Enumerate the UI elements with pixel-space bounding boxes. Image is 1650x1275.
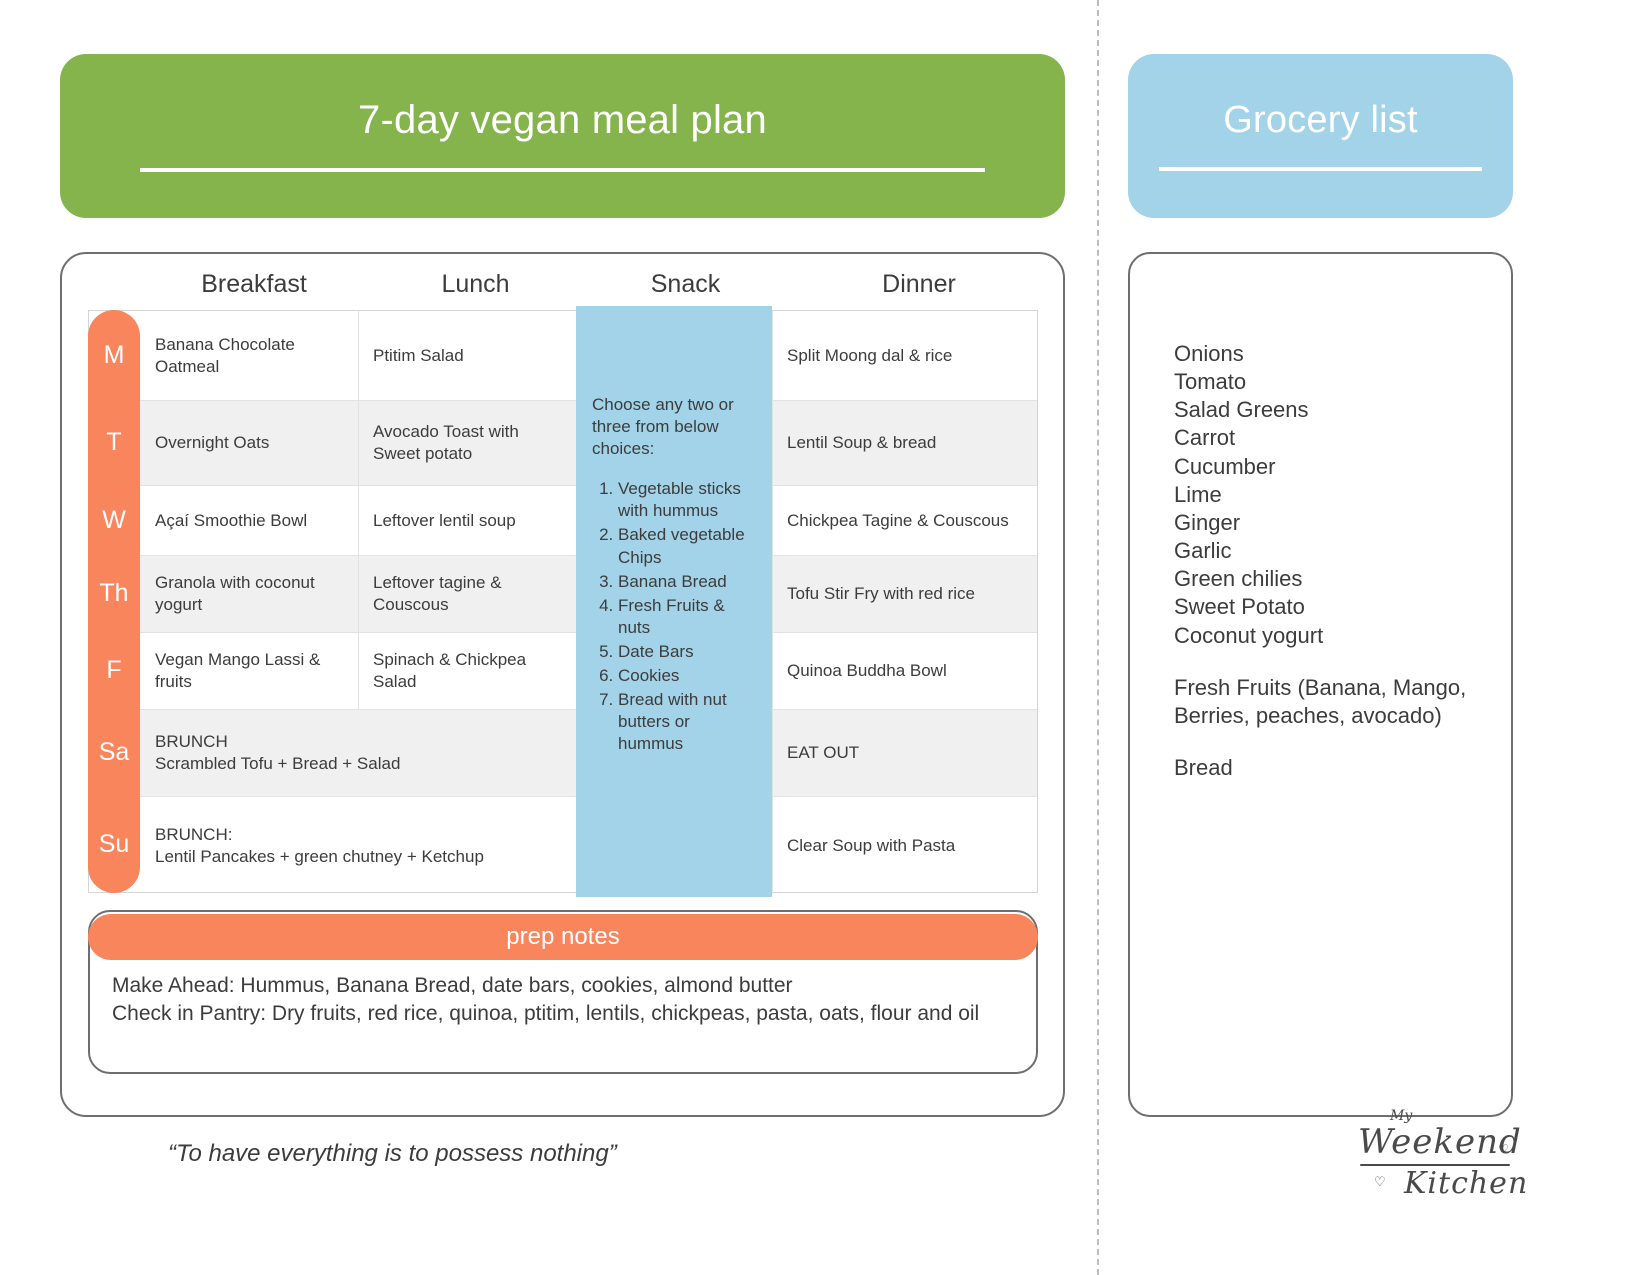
day-label-fri: F [88,632,140,709]
grocery-title-rule [1159,167,1482,171]
day-label-thu: Th [88,555,140,632]
page-divider [1097,0,1099,1275]
cell-dinner: Lentil Soup & bread [773,401,1037,485]
grocery-item: Salad Greens [1174,396,1524,424]
cell-breakfast: Banana Chocolate Oatmeal [141,311,359,400]
day-label-sat: Sa [88,709,140,796]
snack-intro-text: Choose any two or three from below choic… [592,394,758,460]
cell-lunch: Ptitim Salad [359,311,577,400]
table-row: Overnight Oats Avocado Toast with Sweet … [89,401,1037,486]
table-row: Açaí Smoothie Bowl Leftover lentil soup … [89,486,1037,556]
column-header-dinner: Dinner [788,270,1050,299]
logo-kitchen-text: Kitchen [1404,1166,1528,1201]
snack-option: Baked vegetable Chips [618,524,758,568]
grocery-item: Onions [1174,340,1524,368]
cell-lunch: Spinach & Chickpea Salad [359,633,577,709]
grocery-banner: Grocery list [1128,54,1513,218]
grocery-item: Lime [1174,481,1524,509]
day-label-mon: M [88,310,140,400]
cell-breakfast: Granola with coconut yogurt [141,556,359,632]
cell-breakfast: Vegan Mango Lassi & fruits [141,633,359,709]
cell-breakfast: Overnight Oats [141,401,359,485]
grocery-item: Coconut yogurt [1174,622,1524,650]
meal-plan-page: 7-day vegan meal plan Breakfast Lunch Sn… [0,0,1650,1275]
grocery-list: Onions Tomato Salad Greens Carrot Cucumb… [1174,340,1524,782]
prep-notes-header: prep notes [88,914,1038,960]
heart-icon: ♡ [1498,1142,1509,1156]
heart-icon: ♡ [1374,1174,1386,1190]
meal-plan-banner-box: 7-day vegan meal plan [60,54,1065,218]
grocery-item: Garlic [1174,537,1524,565]
brand-logo: My Weekend ♡ ♡ Kitchen [1352,1108,1522,1206]
column-header-snack: Snack [583,270,788,299]
table-row: BRUNCH: Lentil Pancakes + green chutney … [89,797,1037,894]
snack-option: Vegetable sticks with hummus [618,478,758,522]
table-row: Granola with coconut yogurt Leftover tag… [89,556,1037,633]
snack-option: Fresh Fruits & nuts [618,595,758,639]
day-label-wed: W [88,485,140,555]
cell-dinner: Chickpea Tagine & Couscous [773,486,1037,555]
column-header-breakfast: Breakfast [140,270,368,299]
meal-table: M T W Th F Sa Su Banana Chocolate Oatmea… [88,310,1038,893]
snack-option: Banana Bread [618,571,758,593]
snack-option: Cookies [618,665,758,687]
cell-dinner: Tofu Stir Fry with red rice [773,556,1037,632]
cell-dinner: Clear Soup with Pasta [773,797,1037,894]
grocery-item: Ginger [1174,509,1524,537]
cell-lunch: Avocado Toast with Sweet potato [359,401,577,485]
prep-notes-body: Make Ahead: Hummus, Banana Bread, date b… [112,972,1012,1029]
cell-lunch: Leftover lentil soup [359,486,577,555]
grocery-item-bread: Bread [1174,754,1524,782]
grocery-item: Tomato [1174,368,1524,396]
footer-quote: “To have everything is to possess nothin… [168,1140,617,1168]
snack-option: Bread with nut butters or hummus [618,689,758,755]
cell-lunch: Leftover tagine & Couscous [359,556,577,632]
snack-options-list: Vegetable sticks with hummus Baked veget… [592,478,758,755]
meal-plan-banner: 7-day vegan meal plan [60,54,1065,218]
meal-plan-title-rule [140,168,984,172]
meal-plan-title: 7-day vegan meal plan [358,100,767,148]
cell-dinner: Quinoa Buddha Bowl [773,633,1037,709]
cell-dinner: Split Moong dal & rice [773,311,1037,400]
prep-notes-line: Check in Pantry: Dry fruits, red rice, q… [112,1000,1012,1028]
table-row: Banana Chocolate Oatmeal Ptitim Salad Sp… [89,311,1037,401]
grocery-item: Green chilies [1174,565,1524,593]
grocery-banner-box: Grocery list [1128,54,1513,218]
grocery-fruits-note: Fresh Fruits (Banana, Mango, Berries, pe… [1174,674,1524,730]
snack-panel: Choose any two or three from below choic… [576,306,772,897]
grocery-item: Carrot [1174,424,1524,452]
snack-option: Date Bars [618,641,758,663]
cell-breakfast: Açaí Smoothie Bowl [141,486,359,555]
day-strip: M T W Th F Sa Su [88,310,140,893]
prep-notes-line: Make Ahead: Hummus, Banana Bread, date b… [112,972,1012,1000]
meal-table-grid: Banana Chocolate Oatmeal Ptitim Salad Sp… [88,310,1038,893]
table-row: BRUNCH Scrambled Tofu + Bread + Salad EA… [89,710,1037,797]
grocery-list-gap [1174,650,1524,674]
cell-dinner: EAT OUT [773,710,1037,796]
day-label-tue: T [88,400,140,485]
grocery-list-gap [1174,730,1524,754]
cell-brunch: BRUNCH Scrambled Tofu + Bread + Salad [141,710,577,796]
meal-table-column-headers: Breakfast Lunch Snack Dinner [62,258,1062,310]
column-header-lunch: Lunch [368,270,583,299]
table-row: Vegan Mango Lassi & fruits Spinach & Chi… [89,633,1037,710]
grocery-item: Cucumber [1174,453,1524,481]
grocery-title: Grocery list [1223,101,1418,147]
day-label-sun: Su [88,796,140,893]
cell-brunch: BRUNCH: Lentil Pancakes + green chutney … [141,797,577,894]
grocery-item: Sweet Potato [1174,593,1524,621]
